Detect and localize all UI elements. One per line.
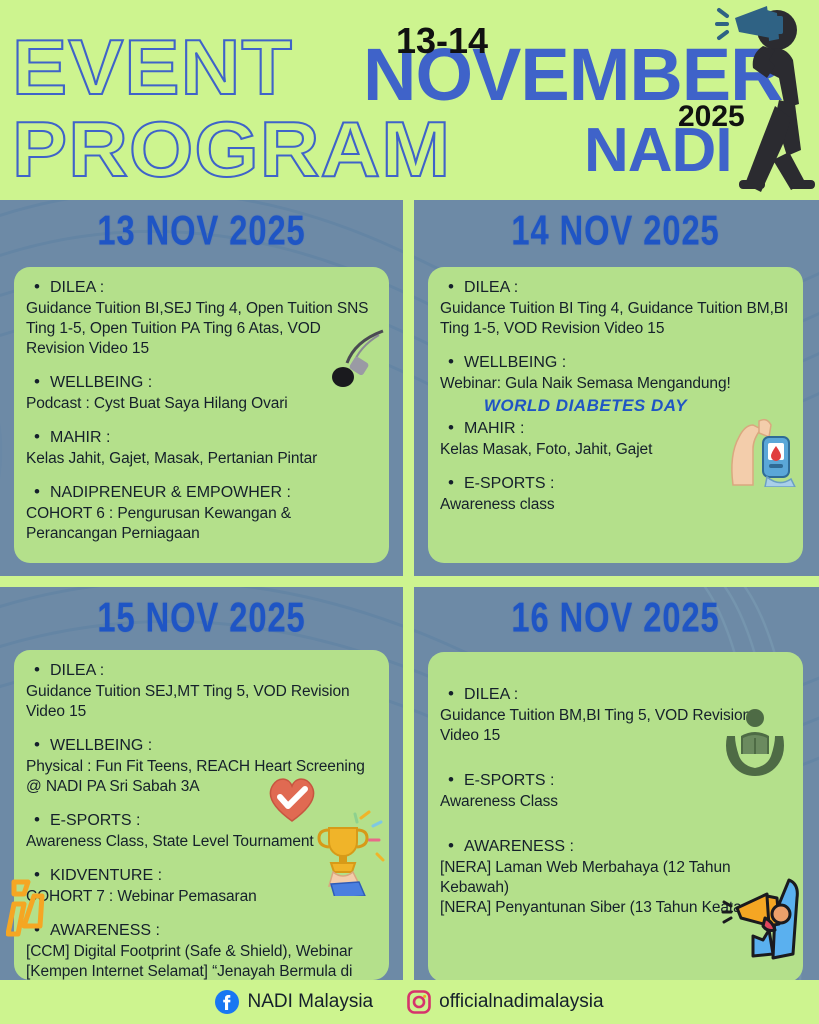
section-heading: WELLBEING : xyxy=(26,372,377,394)
facebook-handle: NADI Malaysia xyxy=(247,991,373,1013)
facebook-link[interactable]: NADI Malaysia xyxy=(215,990,373,1014)
section-heading: MAHIR : xyxy=(26,427,377,449)
day-title: 13 NOV 2025 xyxy=(8,208,395,256)
section-heading: E-SPORTS : xyxy=(440,770,791,792)
section-body: Kelas Masak, Foto, Jahit, Gajet xyxy=(440,440,791,460)
section-dilea: DILEA : Guidance Tuition BM,BI Ting 5, V… xyxy=(440,684,791,746)
easel-icon xyxy=(6,878,70,940)
section-wellbeing: WELLBEING : Podcast : Cyst Buat Saya Hil… xyxy=(26,372,377,414)
section-heading: AWARENESS : xyxy=(26,920,377,942)
section-heading: WELLBEING : xyxy=(26,735,377,757)
section-heading: KIDVENTURE : xyxy=(26,865,377,887)
section-body: Podcast : Cyst Buat Saya Hilang Ovari xyxy=(26,394,377,414)
section-awareness: AWARENESS : [CCM] Digital Footprint (Saf… xyxy=(26,920,377,980)
section-mahir: MAHIR : Kelas Masak, Foto, Jahit, Gajet xyxy=(440,418,791,460)
section-heading: AWARENESS : xyxy=(440,836,791,858)
section-wellbeing: WELLBEING : Physical : Fun Fit Teens, RE… xyxy=(26,735,377,797)
instagram-link[interactable]: officialnadimalaysia xyxy=(407,990,603,1014)
section-body: COHORT 7 : Webinar Pemasaran xyxy=(26,887,377,907)
section-wellbeing: WELLBEING : Webinar: Gula Naik Semasa Me… xyxy=(440,352,791,394)
section-body: Physical : Fun Fit Teens, REACH Heart Sc… xyxy=(26,757,377,797)
section-body: Awareness Class, State Level Tournament xyxy=(26,832,377,852)
day-card: DILEA : Guidance Tuition BI,SEJ Ting 4, … xyxy=(14,267,389,563)
section-body: Guidance Tuition BI,SEJ Ting 4, Open Tui… xyxy=(26,299,377,359)
section-heading: MAHIR : xyxy=(440,418,791,440)
grid-vertical-divider xyxy=(403,200,414,980)
section-esports: E-SPORTS : Awareness Class xyxy=(440,770,791,812)
section-heading: E-SPORTS : xyxy=(26,810,377,832)
section-esports: E-SPORTS : Awareness class xyxy=(440,473,791,515)
section-body: Kelas Jahit, Gajet, Masak, Pertanian Pin… xyxy=(26,449,377,469)
section-mahir: MAHIR : Kelas Jahit, Gajet, Masak, Perta… xyxy=(26,427,377,469)
section-body: Guidance Tuition BI Ting 4, Guidance Tui… xyxy=(440,299,791,339)
section-awareness: AWARENESS : [NERA] Laman Web Merbahaya (… xyxy=(440,836,791,918)
title-program: PROGRAM xyxy=(12,110,451,188)
section-dilea: DILEA : Guidance Tuition BI Ting 4, Guid… xyxy=(440,277,791,339)
day-title: 15 NOV 2025 xyxy=(8,595,395,643)
section-body: Webinar: Gula Naik Semasa Mengandung! xyxy=(440,374,791,394)
poster-header: EVENT PROGRAM NOVEMBER NADI 13-14 2025 xyxy=(0,0,819,200)
event-program-poster: EVENT PROGRAM NOVEMBER NADI 13-14 2025 xyxy=(0,0,819,1024)
section-heading: DILEA : xyxy=(26,660,377,682)
section-body: [CCM] Digital Footprint (Safe & Shield),… xyxy=(26,942,377,980)
day-card: DILEA : Guidance Tuition BM,BI Ting 5, V… xyxy=(428,652,803,982)
section-nadipreneur: NADIPRENEUR & EMPOWHER : COHORT 6 : Peng… xyxy=(26,482,377,544)
section-body: Awareness class xyxy=(440,495,791,515)
section-body: [NERA] Laman Web Merbahaya (12 Tahun Keb… xyxy=(440,858,791,918)
grid-horizontal-divider xyxy=(0,576,819,587)
days-grid: 13 NOV 2025 DILEA : Guidance Tuition BI,… xyxy=(0,200,819,980)
section-heading: DILEA : xyxy=(440,277,791,299)
section-dilea: DILEA : Guidance Tuition BI,SEJ Ting 4, … xyxy=(26,277,377,359)
day-card: DILEA : Guidance Tuition BI Ting 4, Guid… xyxy=(428,267,803,563)
section-esports: E-SPORTS : Awareness Class, State Level … xyxy=(26,810,377,852)
section-heading: DILEA : xyxy=(440,684,791,706)
facebook-icon xyxy=(215,990,239,1014)
instagram-icon xyxy=(407,990,431,1014)
day-card: DILEA : Guidance Tuition SEJ,MT Ting 5, … xyxy=(14,650,389,980)
section-body: Guidance Tuition SEJ,MT Ting 5, VOD Revi… xyxy=(26,682,377,722)
poster-footer: NADI Malaysia officialnadimalaysia xyxy=(0,980,819,1024)
section-body: COHORT 6 : Pengurusan Kewangan & Peranca… xyxy=(26,504,377,544)
section-heading: DILEA : xyxy=(26,277,377,299)
section-heading: E-SPORTS : xyxy=(440,473,791,495)
section-heading: WELLBEING : xyxy=(440,352,791,374)
title-event: EVENT xyxy=(12,28,293,106)
world-diabetes-day-banner: WORLD DIABETES DAY xyxy=(440,396,731,416)
section-body: Awareness Class xyxy=(440,792,791,812)
day-title: 16 NOV 2025 xyxy=(422,595,809,643)
day-title: 14 NOV 2025 xyxy=(422,208,809,256)
section-body: Guidance Tuition BM,BI Ting 5, VOD Revis… xyxy=(440,706,791,746)
section-heading: NADIPRENEUR & EMPOWHER : xyxy=(26,482,377,504)
instagram-handle: officialnadimalaysia xyxy=(439,991,603,1013)
day-panel-15-nov: 15 NOV 2025 DILEA : Guidance Tuition SEJ… xyxy=(0,587,403,980)
day-panel-16-nov: 16 NOV 2025 DILEA : Guidance Tuition BM,… xyxy=(414,587,817,980)
person-with-megaphone-icon xyxy=(705,2,815,192)
day-panel-14-nov: 14 NOV 2025 DILEA : Guidance Tuition BI … xyxy=(414,200,817,576)
section-kidventure: KIDVENTURE : COHORT 7 : Webinar Pemasara… xyxy=(26,865,377,907)
header-day-range: 13-14 xyxy=(396,20,488,62)
section-dilea: DILEA : Guidance Tuition SEJ,MT Ting 5, … xyxy=(26,660,377,722)
day-panel-13-nov: 13 NOV 2025 DILEA : Guidance Tuition BI,… xyxy=(0,200,403,576)
